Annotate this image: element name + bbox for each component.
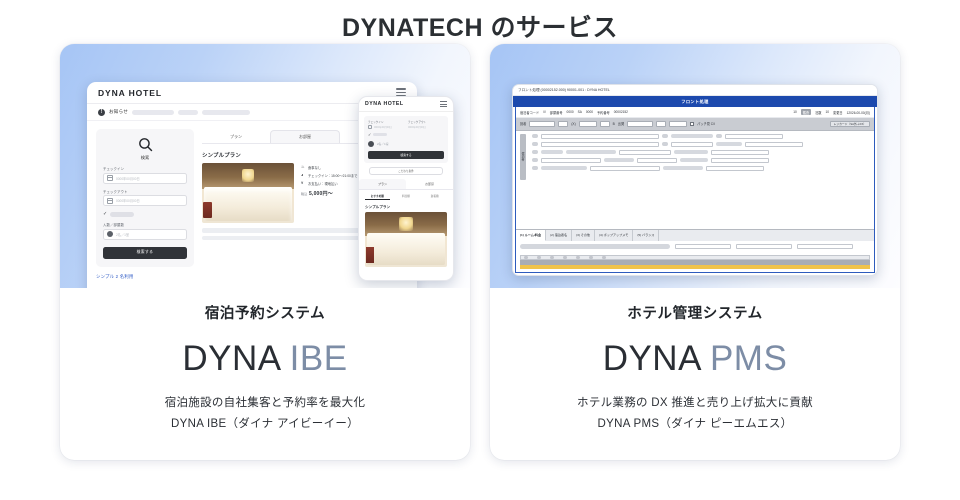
ibe-desc-line2: DYNA IBE（ダイナ アイビーイー）	[70, 414, 460, 435]
calendar-icon	[107, 175, 113, 181]
side-chair	[203, 202, 212, 218]
grid-input[interactable]	[541, 134, 659, 140]
pms-logo: DYNAPMS	[500, 339, 890, 379]
pms-logo-accent: PMS	[710, 339, 787, 378]
pms-under-tabs	[516, 241, 874, 256]
payment-icon: ¥	[301, 181, 306, 186]
person-icon	[368, 141, 374, 147]
calendar-icon	[368, 125, 372, 129]
pms-vertical-tab[interactable]: 宿泊者	[520, 134, 526, 180]
service-cards-row: DYNA HOTEL ! お知らせ	[0, 44, 960, 460]
notice-label: お知らせ	[109, 109, 128, 115]
mobile-brand: DYNA HOTEL	[365, 101, 404, 107]
ibe-logo-accent: IBE	[290, 339, 348, 378]
under-input[interactable]	[736, 244, 792, 250]
under-input[interactable]	[797, 244, 853, 250]
pms-tab-other[interactable]: (3) その他	[572, 230, 595, 241]
info-icon: !	[98, 109, 105, 116]
search-submit-button[interactable]: 検索する	[103, 247, 187, 259]
pms-tab-room-rate[interactable]: (1) ルーム・料金	[516, 230, 546, 241]
b-label: B	[613, 122, 615, 126]
plan-info-meal: 食事なし	[308, 165, 321, 170]
grid-input[interactable]	[541, 158, 601, 164]
price-value: 5,000円〜	[309, 191, 333, 197]
lamp-glow	[399, 217, 413, 231]
ibe-hero-gradient: DYNA HOTEL ! お知らせ	[60, 44, 470, 288]
mobile-daytrip-bar	[373, 133, 387, 137]
col-marker	[563, 256, 567, 259]
calendar-icon	[107, 198, 113, 204]
mobile-search-panel: チェックイン 0000年00月00日 チェックアウト 0000年00月00日	[364, 116, 448, 163]
col-marker	[550, 256, 554, 259]
price-prefix: 税込	[301, 192, 307, 196]
hamburger-icon[interactable]	[440, 100, 447, 109]
pms-form-grid: 宿泊者	[516, 131, 874, 229]
ibe-category: 宿泊予約システム	[70, 302, 460, 323]
pms-grid-row	[532, 158, 870, 164]
tab-plan[interactable]: プラン	[202, 134, 270, 143]
pms-title-bar: フロント処理	[513, 96, 877, 107]
notice-placeholder-bar	[178, 110, 198, 115]
under-pill	[520, 244, 670, 249]
mobile-checkin-label: チェックイン	[368, 120, 404, 124]
page-title: DYNATECH のサービス	[0, 0, 960, 44]
pms-category: ホテル管理システム	[500, 302, 890, 323]
row-marker	[716, 134, 722, 138]
pms-grid-row	[532, 150, 870, 156]
grid-input[interactable]	[637, 158, 677, 164]
mobile-tab-room[interactable]: お部屋	[406, 179, 453, 189]
pms-grid-columns	[532, 134, 870, 226]
pms-tab-guest-name[interactable]: (2) 宿泊者名	[546, 230, 572, 241]
under-input[interactable]	[675, 244, 731, 250]
checkin-label: チェックイン	[103, 166, 187, 171]
mobile-search-label: 検索する	[400, 153, 411, 157]
side-chair	[366, 247, 374, 263]
pms-hero-gradient: フロント処理 (00002152.000) 90001-001 : DYNA H…	[490, 44, 900, 288]
grid-fill	[566, 150, 616, 154]
services-page: DYNATECH のサービス DYNA HOTEL ! お知らせ	[0, 0, 960, 500]
ibe-logo: DYNAIBE	[70, 339, 460, 379]
pms-tab-bar: (1) ルーム・料金 (2) 宿泊者名 (3) その他 (4) ポップアップメモ…	[516, 229, 874, 241]
checkout-label: チェックアウト	[103, 189, 187, 194]
mobile-guest-placeholder: 2名／1室	[377, 142, 389, 146]
x-label: (X)	[571, 122, 575, 126]
search-caption: 検索	[103, 155, 187, 161]
mobile-room-photo	[365, 212, 447, 267]
arrive-sub-input[interactable]	[558, 121, 568, 127]
check-icon: ✓	[368, 132, 371, 137]
daytrip-label-bar	[110, 212, 134, 217]
audit-badge[interactable]: 鑑査	[801, 109, 811, 115]
row-marker	[662, 142, 668, 146]
checkin-placeholder: 0000年00月00日	[116, 176, 140, 181]
patch-checkbox[interactable]	[690, 122, 694, 126]
mobile-secondary-label: こだわり条件	[398, 169, 414, 173]
register-card-button[interactable]: レジカード（SA外＋FX）	[830, 121, 870, 128]
mobile-tabs: プラン お部屋	[359, 179, 453, 190]
pms-tab-popup-memo[interactable]: (4) ポップアップメモ	[595, 230, 633, 241]
mobile-guest-field[interactable]: 2名／1室	[368, 141, 444, 147]
guest-code-value[interactable]: ///	[543, 110, 546, 114]
pms-window-caption: フロント処理 (00002152.000) 90001-001 : DYNA H…	[513, 85, 877, 96]
pms-inner-panel: 宿泊者コード /// 部屋番号 0000 SA 0000 予約番号 000021…	[515, 107, 875, 273]
grid-input[interactable]	[671, 142, 713, 148]
depart-label: 出発	[618, 121, 624, 126]
guest-code-label: 宿泊者コード	[520, 110, 539, 115]
mobile-date-row: チェックイン 0000年00月00日 チェックアウト 0000年00月00日	[368, 120, 444, 129]
grid-fill	[541, 166, 587, 170]
check-icon: ✓	[103, 211, 107, 217]
service-card-pms[interactable]: フロント処理 (00002152.000) 90001-001 : DYNA H…	[490, 44, 900, 460]
mobile-checkout-placeholder: 0000年00月00日	[408, 125, 426, 129]
search-icon-block: 検索	[103, 136, 187, 161]
grid-fill	[604, 158, 634, 162]
col-marker	[589, 256, 593, 259]
booking-search-panel: 検索 チェックイン 0000年00月00日 チェックアウト 0000年00月00…	[96, 129, 194, 267]
row-marker	[532, 166, 538, 170]
search-submit-label: 検索する	[137, 250, 154, 255]
mobile-checkin-field[interactable]: 0000年00月00日	[368, 125, 404, 129]
b-check[interactable]	[600, 121, 610, 127]
reservation-no-value[interactable]: 00002152	[614, 110, 628, 114]
x-input[interactable]	[579, 121, 597, 127]
patch-checkbox-label: パッチ見 C/I	[697, 121, 715, 126]
col-marker	[602, 256, 606, 259]
lamp-glow	[242, 169, 254, 182]
footer-highlight-row[interactable]	[520, 265, 870, 269]
pms-field-row-2: 到着 (X) B 出発 パッチ見 C/I	[516, 118, 874, 131]
ibe-text-block: 宿泊予約システム DYNAIBE 宿泊施設の自社集客と予約率を最大化 DYNA …	[60, 288, 470, 460]
grid-input[interactable]	[725, 134, 783, 140]
nights-value[interactable]: 10	[826, 110, 830, 114]
grid-input[interactable]	[706, 166, 764, 172]
checkin-input[interactable]: 0000年00月00日	[103, 173, 187, 184]
checkout-placeholder: 0000年00月00日	[116, 198, 140, 203]
grid-input[interactable]	[711, 158, 769, 164]
changed-label: 変更日	[833, 110, 843, 115]
row-marker	[532, 150, 538, 154]
nights-label: 泊数	[815, 110, 821, 115]
tab-room[interactable]: お部屋	[270, 130, 340, 143]
ibe-mobile-mockup: DYNA HOTEL チェックイン 0000年00月00日	[358, 96, 454, 281]
pms-grid-row	[532, 134, 870, 140]
ibe-desc-line1: 宿泊施設の自社集客と予約率を最大化	[70, 393, 460, 414]
mobile-sort-recommended[interactable]: おすすめ順	[365, 194, 390, 200]
row-marker	[532, 158, 538, 162]
count-value[interactable]: 10	[793, 110, 797, 114]
desktop-brand: DYNA HOTEL	[98, 88, 162, 98]
grid-fill	[671, 134, 713, 138]
col-marker	[524, 256, 528, 259]
depart-input[interactable]	[627, 121, 653, 127]
pms-logo-main: DYNA	[603, 339, 702, 378]
extra-input[interactable]	[669, 121, 687, 127]
magnifier-icon	[137, 136, 154, 153]
row-marker	[662, 134, 668, 138]
ibe-logo-main: DYNA	[182, 339, 281, 378]
pms-tab-balance[interactable]: (5) バランス	[633, 230, 659, 241]
mobile-checkout[interactable]: チェックアウト 0000年00月00日	[408, 120, 444, 129]
col-marker	[576, 256, 580, 259]
mobile-header: DYNA HOTEL	[359, 97, 453, 112]
room-sub-value[interactable]: 0000	[586, 110, 593, 114]
row-marker	[532, 142, 538, 146]
mobile-sort-tabs: おすすめ順 料金順 新着順	[359, 190, 453, 202]
col-marker	[537, 256, 541, 259]
grid-fill	[680, 158, 708, 162]
guest-placeholder: 2名／1室	[116, 232, 129, 237]
mobile-daytrip-row[interactable]: ✓	[368, 132, 444, 137]
pms-under-row	[520, 244, 870, 250]
reservation-no-label: 予約番号	[597, 110, 610, 115]
pms-desc-line2: DYNA PMS（ダイナ ピーエムエス）	[500, 414, 890, 435]
daytrip-checkbox-row[interactable]: ✓	[103, 211, 187, 217]
room-photo	[202, 163, 294, 223]
grid-fill	[541, 150, 563, 154]
pms-desc-line1: ホテル業務の DX 推進と売り上げ拡大に貢献	[500, 393, 890, 414]
mobile-tab-plan[interactable]: プラン	[359, 179, 406, 189]
mobile-checkin-placeholder: 0000年00月00日	[374, 125, 392, 129]
guest-input[interactable]: 2名／1室	[103, 229, 187, 240]
mobile-checkin[interactable]: チェックイン 0000年00月00日	[368, 120, 404, 129]
changed-value[interactable]: 12026-00-00(月)	[847, 110, 870, 115]
mobile-checkout-field[interactable]: 0000年00月00日	[408, 125, 444, 129]
plan-info-checkin: チェックイン：15:00〜21:00まで	[308, 173, 357, 178]
plan-info-payment: お支払い：現地払い	[308, 181, 338, 186]
arrive-label: 到着	[520, 121, 526, 126]
room-type-value[interactable]: SA	[578, 110, 582, 114]
clock-icon: ◕	[301, 173, 306, 178]
room-no-value[interactable]: 0000	[567, 110, 574, 114]
grid-input[interactable]	[619, 150, 671, 156]
mobile-plan-title: シンプルプラン	[359, 202, 453, 212]
grid-input[interactable]	[541, 142, 659, 148]
pms-grid-row	[532, 142, 870, 148]
grid-input[interactable]	[590, 166, 660, 172]
pms-grid-row	[532, 166, 870, 172]
grid-input[interactable]	[711, 150, 769, 156]
pms-text-block: ホテル管理システム DYNAPMS ホテル業務の DX 推進と売り上げ拡大に貢献…	[490, 288, 900, 460]
meal-icon: ♨	[301, 165, 306, 170]
mobile-secondary-button[interactable]: こだわり条件	[369, 167, 443, 175]
grid-input[interactable]	[745, 142, 803, 148]
service-card-ibe[interactable]: DYNA HOTEL ! お知らせ	[60, 44, 470, 460]
grid-fill	[663, 166, 703, 170]
pms-desktop-mockup: フロント処理 (00002152.000) 90001-001 : DYNA H…	[512, 84, 878, 276]
arrive-input[interactable]	[529, 121, 555, 127]
person-icon	[107, 231, 113, 237]
grid-fill	[716, 142, 742, 146]
notice-placeholder-bar	[202, 110, 250, 115]
mobile-sort-price[interactable]: 料金順	[394, 194, 419, 200]
guest-label: 人数／部屋数	[103, 222, 187, 227]
notice-placeholder-bar	[132, 110, 174, 115]
pms-footer-table	[520, 255, 870, 269]
room-no-label: 部屋番号	[550, 110, 563, 115]
pms-vertical-tab-col: 宿泊者	[520, 134, 528, 226]
row-marker	[532, 134, 538, 138]
mobile-sort-new[interactable]: 新着順	[422, 194, 447, 200]
pms-field-row-1: 宿泊者コード /// 部屋番号 0000 SA 0000 予約番号 000021…	[516, 107, 874, 118]
grid-fill	[674, 150, 708, 154]
mobile-checkout-label: チェックアウト	[408, 120, 444, 124]
depart-sub-input[interactable]	[656, 121, 666, 127]
mobile-search-button[interactable]: 検索する	[368, 151, 444, 159]
checkout-input[interactable]: 0000年00月00日	[103, 195, 187, 206]
